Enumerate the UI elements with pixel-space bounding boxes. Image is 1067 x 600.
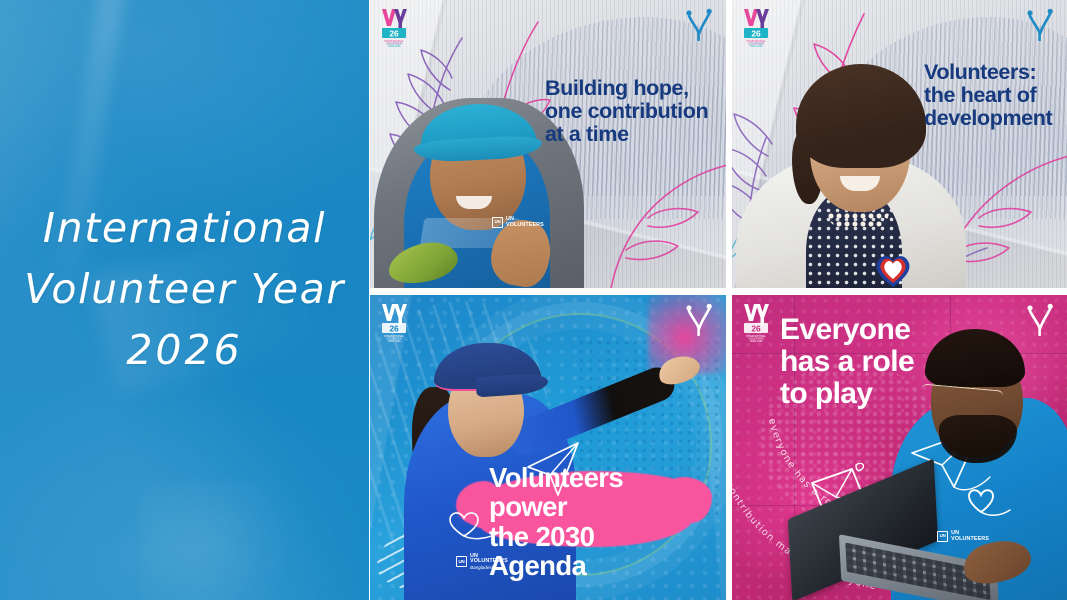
un-volunteers-y-mark-icon	[686, 302, 712, 336]
card-headline-2030-agenda: Volunteers power the 2030 Agenda	[489, 463, 623, 581]
un-volunteers-badge: UN UN VOLUNTEERS	[492, 217, 544, 228]
un-volunteers-badge-line-2: VOLUNTEERS	[470, 559, 508, 564]
headline-line-1: Everyone	[780, 314, 914, 346]
ivy26-logo-icon: 26 INTERNATIONAL VOLUNTEER YEAR 2026	[741, 301, 771, 343]
un-volunteers-heart-logo-icon	[955, 484, 1011, 524]
campaign-card-2030-agenda[interactable]: UN UN VOLUNTEERS Bangladesh Volunteers p…	[370, 295, 726, 600]
card-headline-role-to-play: Everyone has a role to play	[780, 314, 914, 410]
ivy26-logo-icon: 26 INTERNATIONAL VOLUNTEER YEAR 2026	[741, 6, 771, 48]
headline-line-2: power	[489, 492, 623, 521]
campaign-card-heart-of-development[interactable]: Volunteers: the heart of development 26 …	[732, 0, 1067, 288]
un-volunteers-badge: UN UN VOLUNTEERS Bangladesh	[456, 554, 508, 570]
headline-line-3: to play	[780, 378, 914, 410]
un-volunteers-badge: UN UN VOLUNTEERS	[937, 531, 989, 542]
un-emblem-icon: UN	[456, 556, 467, 567]
headline-line-3: development	[924, 107, 1067, 130]
svg-text:26: 26	[751, 323, 761, 333]
un-volunteers-y-mark-icon	[1027, 7, 1053, 41]
un-volunteers-badge-line-2: VOLUNTEERS	[506, 223, 544, 228]
svg-text:YEAR 2026: YEAR 2026	[749, 45, 763, 48]
un-volunteers-y-mark-icon	[686, 7, 712, 41]
light-glow-decoration	[140, 480, 300, 600]
poster-canvas: International Volunteer Year 2026	[0, 0, 1067, 600]
heart-emblem-icon	[872, 250, 914, 288]
svg-text:YEAR 2026: YEAR 2026	[387, 340, 401, 343]
page-title: International Volunteer Year 2026	[0, 198, 369, 381]
svg-text:26: 26	[389, 323, 399, 333]
headline-line-1: Volunteers	[489, 463, 623, 492]
pearl-necklace	[827, 212, 889, 228]
svg-text:26: 26	[751, 28, 761, 38]
campaign-card-building-hope[interactable]: UN UN VOLUNTEERS Building hope, one cont…	[370, 0, 726, 288]
headline-line-2: the heart of	[924, 84, 1067, 107]
un-volunteers-y-mark-icon	[1027, 302, 1053, 336]
un-volunteers-badge-country: Bangladesh	[470, 566, 508, 571]
svg-text:YEAR 2026: YEAR 2026	[387, 45, 401, 48]
page-title-line-3: 2026	[14, 320, 355, 381]
un-volunteers-badge-line-2: VOLUNTEERS	[951, 537, 989, 542]
headline-line-2: one contribution	[545, 100, 708, 123]
ivy-logo-year: 26	[389, 28, 399, 38]
headline-line-4: Agenda	[489, 551, 623, 580]
un-emblem-icon: UN	[937, 531, 948, 542]
card-headline-building-hope: Building hope, one contribution at a tim…	[545, 77, 708, 146]
left-title-panel: International Volunteer Year 2026	[0, 0, 369, 600]
un-emblem-icon: UN	[492, 217, 503, 228]
card-headline-heart-of-development: Volunteers: the heart of development	[924, 61, 1067, 130]
ivy26-logo-icon: 26 INTERNATIONAL VOLUNTEER YEAR 2026	[379, 301, 409, 343]
headline-line-3: the 2030	[489, 522, 623, 551]
page-title-line-1: International	[14, 198, 355, 259]
headline-line-1: Volunteers:	[924, 61, 1067, 84]
campaign-card-grid: UN UN VOLUNTEERS Building hope, one cont…	[369, 0, 1067, 600]
ivy26-logo-icon: 26 INTERNATIONAL VOLUNTEER YEAR 2026	[379, 6, 409, 48]
headline-line-2: has a role	[780, 346, 914, 378]
campaign-card-role-to-play[interactable]: every contribution matters, everyone eve…	[732, 295, 1067, 600]
heart-doodle-icon	[442, 504, 508, 544]
svg-text:YEAR 2026: YEAR 2026	[749, 340, 763, 343]
headline-line-3: at a time	[545, 123, 708, 146]
page-title-line-2: Volunteer Year	[14, 259, 355, 320]
headline-line-1: Building hope,	[545, 77, 708, 100]
